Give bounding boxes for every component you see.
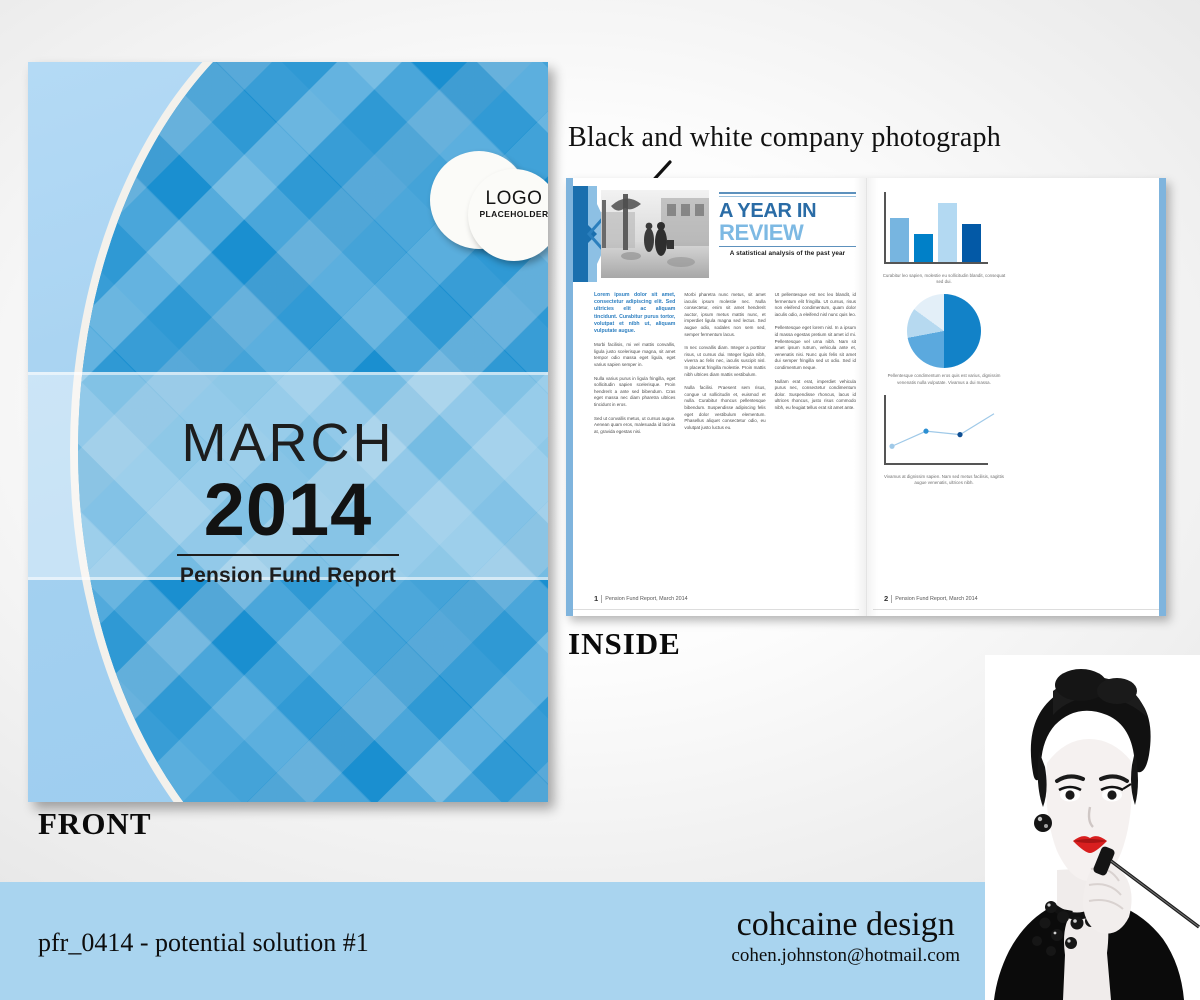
footer-divider [891, 595, 892, 603]
bar-item [938, 203, 957, 262]
portrait-photo [985, 655, 1200, 1000]
cover-title-rule [177, 554, 399, 556]
brand-email: cohen.johnston@hotmail.com [731, 944, 960, 968]
spread-page-left: A YEAR IN REVIEW A statistical analysis … [566, 178, 866, 616]
line-chart-series [880, 395, 1008, 469]
cover-title-block: MARCH 2014 Pension Fund Report [28, 414, 548, 588]
body-column-2: Morbi pharetra nunc metus, sit amet iacu… [684, 292, 765, 442]
logo-text: LOGO PLACEHOLDER [468, 189, 548, 219]
footer-text: Pension Fund Report, March 2014 [895, 596, 977, 602]
bar-chart-x-axis [884, 262, 988, 264]
headline-rule-bottom [719, 246, 856, 247]
front-label: FRONT [38, 806, 152, 842]
body-columns: Lorem ipsum dolor sit amet, consectetur … [594, 292, 856, 442]
page-number: 1 [594, 594, 598, 603]
charts-column: Curabitur leo sapien, molestie eu sollic… [880, 190, 1008, 495]
spread-gutter [866, 178, 867, 616]
company-photograph [601, 190, 709, 278]
headline-line2: REVIEW [719, 222, 856, 244]
body-paragraph: Lorem ipsum dolor sit amet, consectetur … [594, 292, 675, 335]
spread-edge-right [1159, 178, 1166, 616]
logo-line1: LOGO [468, 189, 548, 209]
spread-page-right: Curabitur leo sapien, molestie eu sollic… [866, 178, 1166, 616]
photo-callout-text: Black and white company photograph [568, 122, 1001, 154]
body-paragraph: Morbi facilisis, mi vel mattis convallis… [594, 342, 675, 368]
body-paragraph: Ut pellentesque est nec leo blandit, id … [775, 292, 856, 318]
inside-spread-artwork: A YEAR IN REVIEW A statistical analysis … [566, 178, 1166, 616]
body-paragraph: Sed ut convallis metus, ut cursus augue.… [594, 416, 675, 436]
page-footer-right: 2 Pension Fund Report, March 2014 [884, 594, 978, 603]
body-paragraph: Nullam erat erat, imperdiet vehicula pur… [775, 379, 856, 412]
bar-chart-block: Curabitur leo sapien, molestie eu sollic… [880, 190, 1008, 285]
brand-name: cohcaine design [731, 906, 960, 944]
bar-item [914, 234, 933, 263]
pie-chart-block: Pellentesque condimentum eros quis est v… [880, 294, 1008, 385]
cover-month: MARCH [28, 414, 548, 472]
bar-chart [880, 190, 1008, 268]
body-column-3: Ut pellentesque est nec leo blandit, id … [775, 292, 856, 442]
body-paragraph: Nulla varius purus in ligula fringilla, … [594, 376, 675, 409]
cover-band-rule-top [28, 372, 548, 375]
body-paragraph: In nec convallis diam. Integer a porttit… [684, 345, 765, 378]
line-chart [880, 395, 1008, 469]
pie-chart-caption: Pellentesque condimentum eros quis est v… [880, 373, 1008, 385]
pie-chart [907, 294, 981, 368]
front-cover-artwork: LOGO PLACEHOLDER MARCH 2014 Pension Fund… [28, 62, 548, 802]
project-code-text: pfr_0414 - potential solution #1 [38, 928, 369, 958]
headline-block: A YEAR IN REVIEW A statistical analysis … [719, 192, 856, 257]
footer-divider [601, 595, 602, 603]
headline-rule-thin [719, 196, 856, 197]
body-paragraph: Morbi pharetra nunc metus, sit amet iacu… [684, 292, 765, 338]
page-number: 2 [884, 594, 888, 603]
footer-rule-left [573, 609, 859, 610]
footer-text: Pension Fund Report, March 2014 [605, 596, 687, 602]
logo-placeholder: LOGO PLACEHOLDER [428, 147, 548, 262]
body-paragraph: Nulla facilisi. Praesent sem risus, cong… [684, 385, 765, 431]
body-paragraph: Pellentesque eget lorem nisl. In a ipsum… [775, 325, 856, 371]
footer-rule-right [873, 609, 1159, 610]
brand-block: cohcaine design cohen.johnston@hotmail.c… [731, 906, 960, 968]
body-column-1: Lorem ipsum dolor sit amet, consectetur … [594, 292, 675, 442]
bar-chart-bars [890, 190, 981, 262]
cover-year: 2014 [28, 472, 548, 548]
line-chart-caption: Vivamus at dignissim sapien. Nam sed met… [880, 474, 1008, 486]
cover-subtitle: Pension Fund Report [28, 564, 548, 588]
inside-label: INSIDE [568, 626, 681, 662]
headline-line1: A YEAR IN [719, 201, 856, 222]
line-chart-block: Vivamus at dignissim sapien. Nam sed met… [880, 395, 1008, 486]
bar-chart-y-axis [884, 192, 886, 264]
bar-item [962, 224, 981, 263]
headline-rule-top [719, 192, 856, 194]
spread-edge-left [566, 178, 573, 616]
headline-subtitle: A statistical analysis of the past year [719, 250, 856, 257]
page-footer-left: 1 Pension Fund Report, March 2014 [594, 594, 688, 603]
masthead: A YEAR IN REVIEW A statistical analysis … [573, 186, 856, 282]
bar-item [890, 218, 909, 263]
bar-chart-caption: Curabitur leo sapien, molestie eu sollic… [880, 273, 1008, 285]
logo-line2: PLACEHOLDER [468, 209, 548, 219]
